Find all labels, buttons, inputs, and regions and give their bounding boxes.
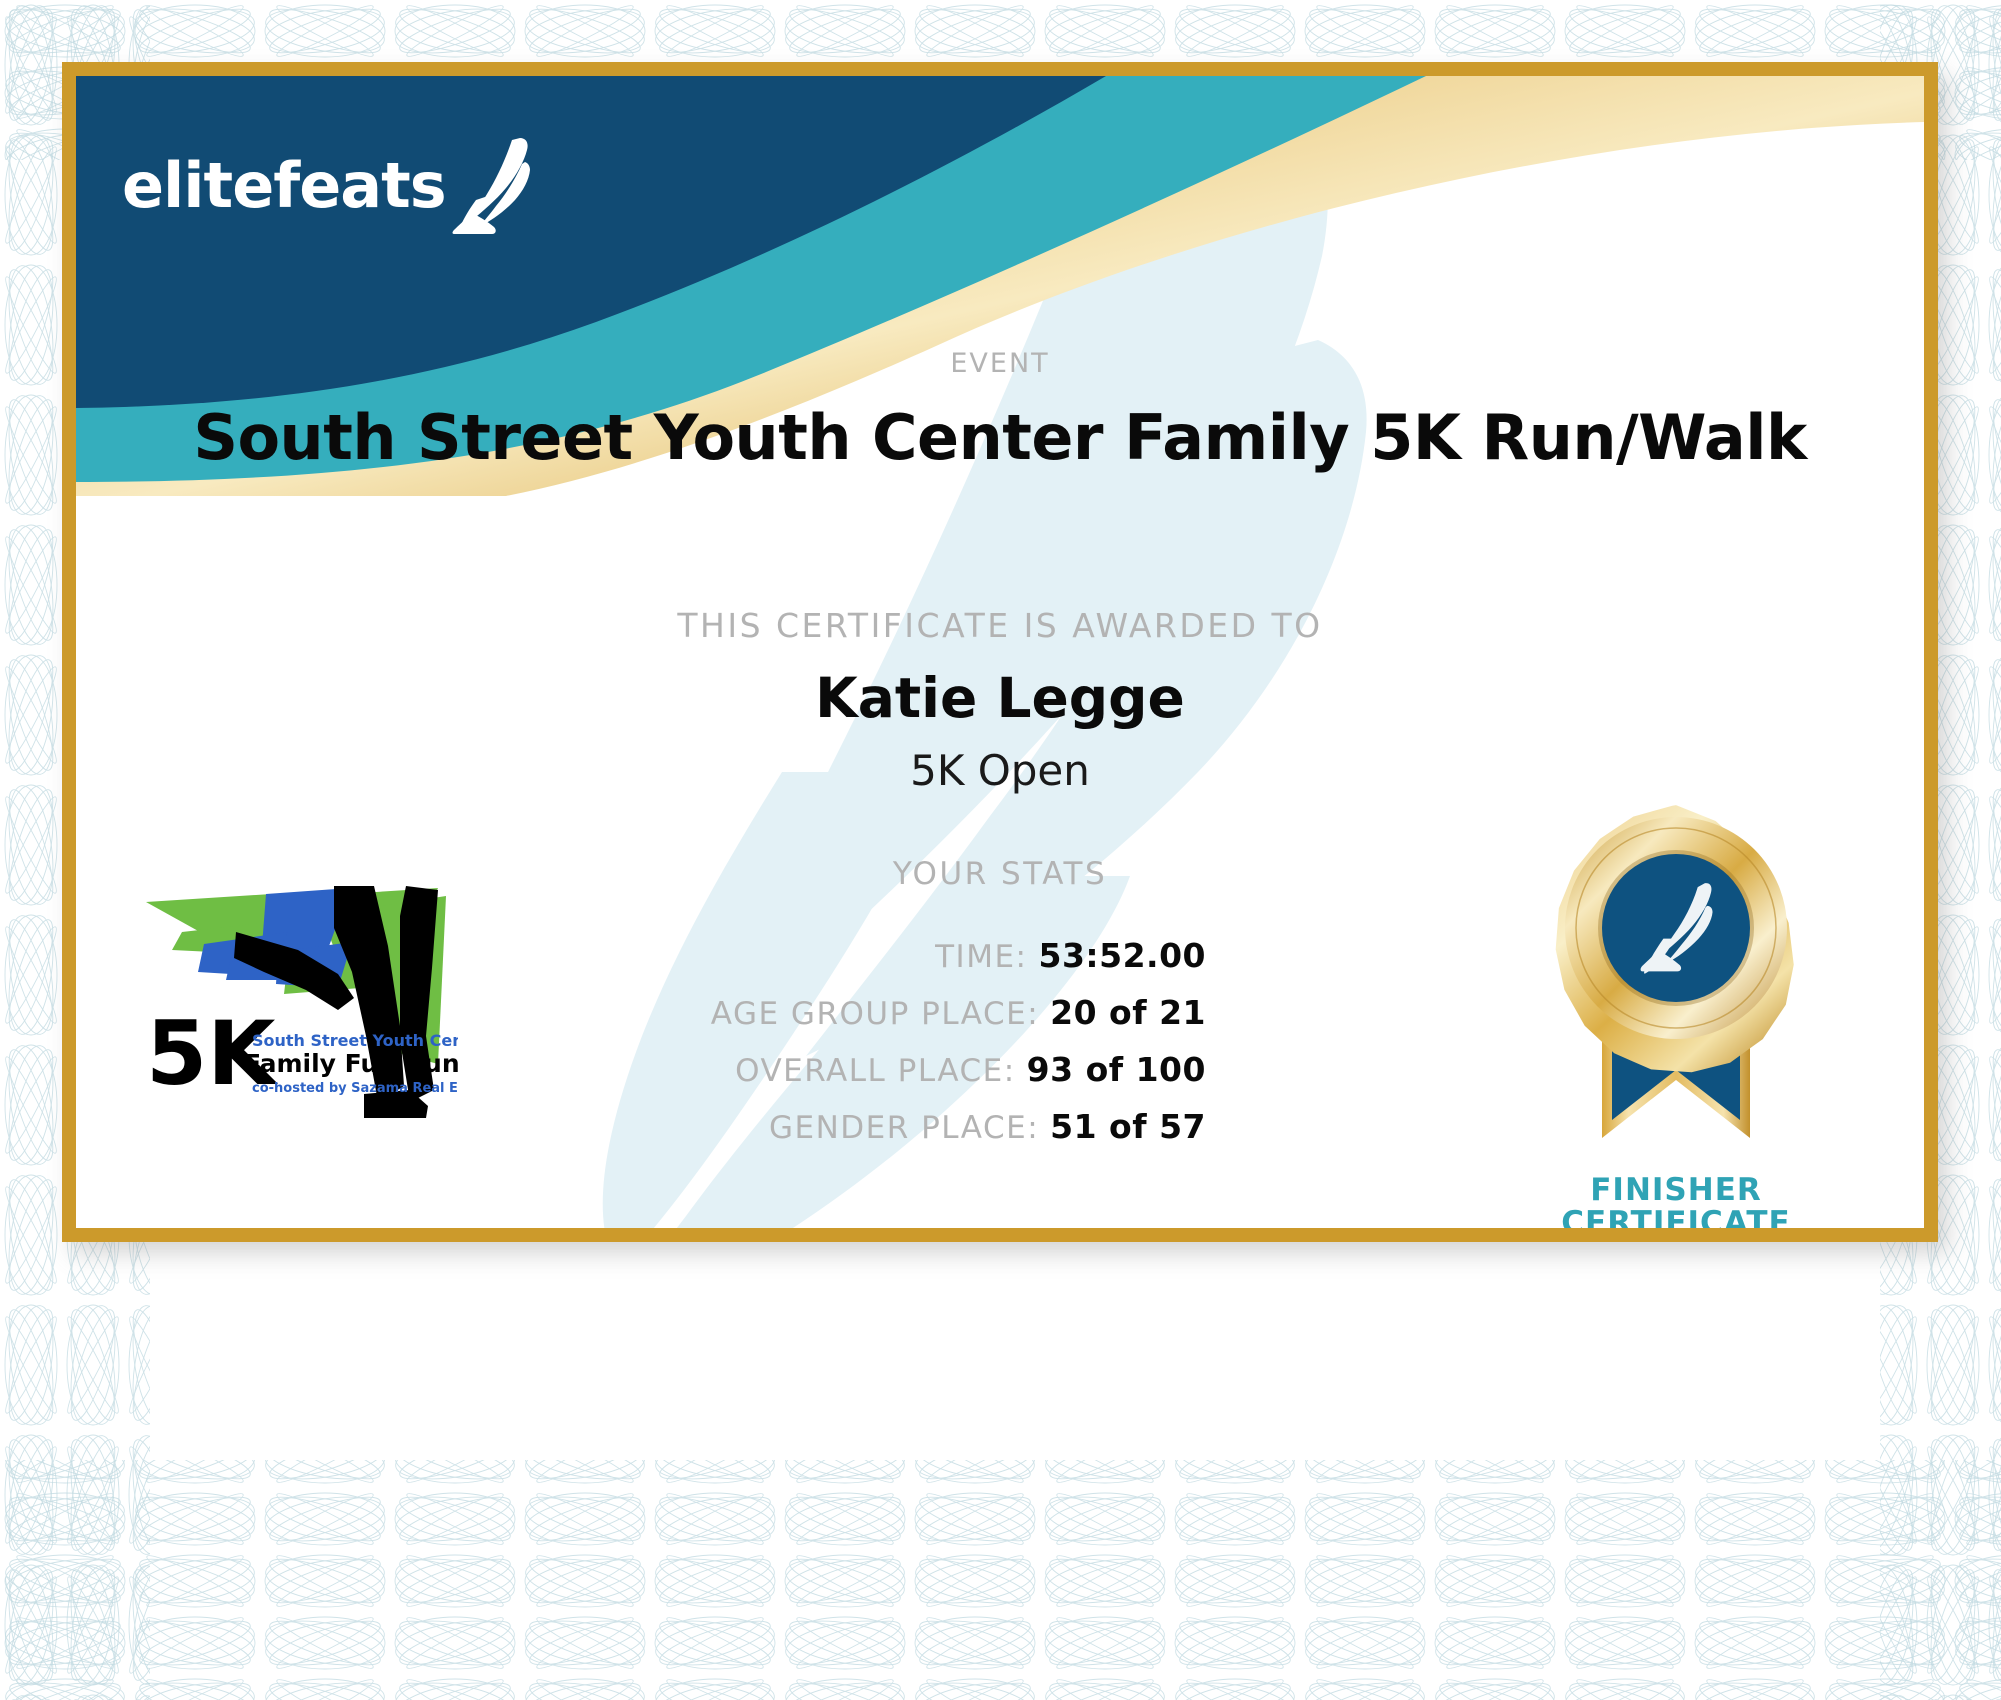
event-logo-line3: co-hosted by Sazama Real Estate bbox=[252, 1081, 458, 1096]
certificate-content: EVENT South Street Youth Center Family 5… bbox=[76, 76, 1924, 1228]
stat-key: AGE GROUP PLACE: bbox=[711, 996, 1039, 1032]
stat-key: GENDER PLACE: bbox=[769, 1110, 1039, 1146]
certificate-body: elitefeats EVENT South Street Youth Cent… bbox=[76, 76, 1924, 1228]
stat-key: OVERALL PLACE: bbox=[735, 1053, 1016, 1089]
finisher-caption-line1: FINISHER bbox=[1506, 1174, 1846, 1207]
finisher-medal-icon: 2024 bbox=[1536, 788, 1816, 1168]
certificate-page: elitefeats EVENT South Street Youth Cent… bbox=[0, 0, 2001, 1700]
stat-value: 53:52.00 bbox=[1038, 936, 1206, 975]
stat-value: 51 of 57 bbox=[1050, 1107, 1206, 1146]
certificate-frame: elitefeats EVENT South Street Youth Cent… bbox=[62, 62, 1938, 1242]
finisher-medal-block: 2024 bbox=[1506, 788, 1846, 1228]
stat-key: TIME: bbox=[935, 939, 1027, 975]
stat-value: 93 of 100 bbox=[1027, 1050, 1206, 1089]
event-title: South Street Youth Center Family 5K Run/… bbox=[76, 401, 1924, 474]
brand-logo: elitefeats bbox=[122, 138, 538, 234]
finisher-caption: FINISHER CERTIFICATE bbox=[1506, 1174, 1846, 1228]
event-logo-line1: South Street Youth Center bbox=[252, 1031, 458, 1050]
event-logo: 5K South Street Youth Center Family Fun … bbox=[138, 876, 458, 1126]
medal-center bbox=[1602, 854, 1750, 1002]
recipient-name: Katie Legge bbox=[76, 666, 1924, 730]
brand-wordmark: elitefeats bbox=[122, 155, 446, 217]
stat-value: 20 of 21 bbox=[1050, 993, 1206, 1032]
medal-disc bbox=[1556, 805, 1794, 1072]
event-label: EVENT bbox=[76, 348, 1924, 379]
event-logo-line2: Family Fun Run & Walk bbox=[244, 1049, 458, 1078]
finisher-caption-line2: CERTIFICATE bbox=[1506, 1207, 1846, 1228]
awarded-to-label: THIS CERTIFICATE IS AWARDED TO bbox=[76, 606, 1924, 645]
winged-foot-icon bbox=[452, 138, 538, 234]
